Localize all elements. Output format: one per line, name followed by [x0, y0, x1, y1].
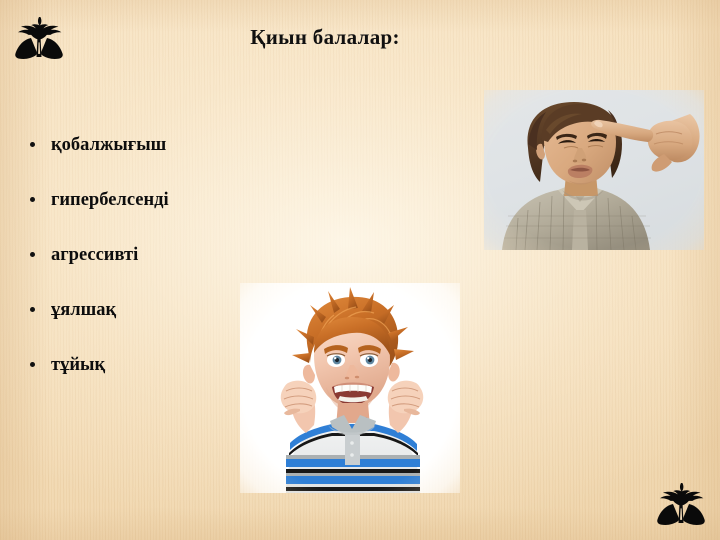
bullet-dot-icon: [30, 307, 35, 312]
photo-scolded-boy: [484, 90, 704, 250]
bullet-dot-icon: [30, 362, 35, 367]
list-item-label: қобалжығыш: [51, 134, 166, 157]
slide-canvas: Қиын балалар: қобалжығыш гипербелсенді а…: [0, 0, 720, 540]
photo-angry-boy: [240, 283, 460, 493]
list-item: агрессивті: [22, 244, 252, 299]
page-title: Қиын балалар:: [120, 24, 530, 50]
list-item-label: гипербелсенді: [51, 189, 169, 212]
list-item-label: агрессивті: [51, 244, 138, 267]
bell-ornament-icon: [8, 14, 70, 62]
bullet-dot-icon: [30, 252, 35, 257]
list-item-label: тұйық: [51, 354, 105, 377]
bullet-dot-icon: [30, 142, 35, 147]
list-item: гипербелсенді: [22, 189, 252, 244]
bullet-dot-icon: [30, 197, 35, 202]
list-item: қобалжығыш: [22, 134, 252, 189]
list-item: тұйық: [22, 354, 252, 409]
bell-ornament-icon: [650, 480, 712, 528]
list-item: ұялшақ: [22, 299, 252, 354]
trait-bullet-list: қобалжығыш гипербелсенді агрессивті ұялш…: [22, 134, 252, 409]
list-item-label: ұялшақ: [51, 299, 116, 322]
